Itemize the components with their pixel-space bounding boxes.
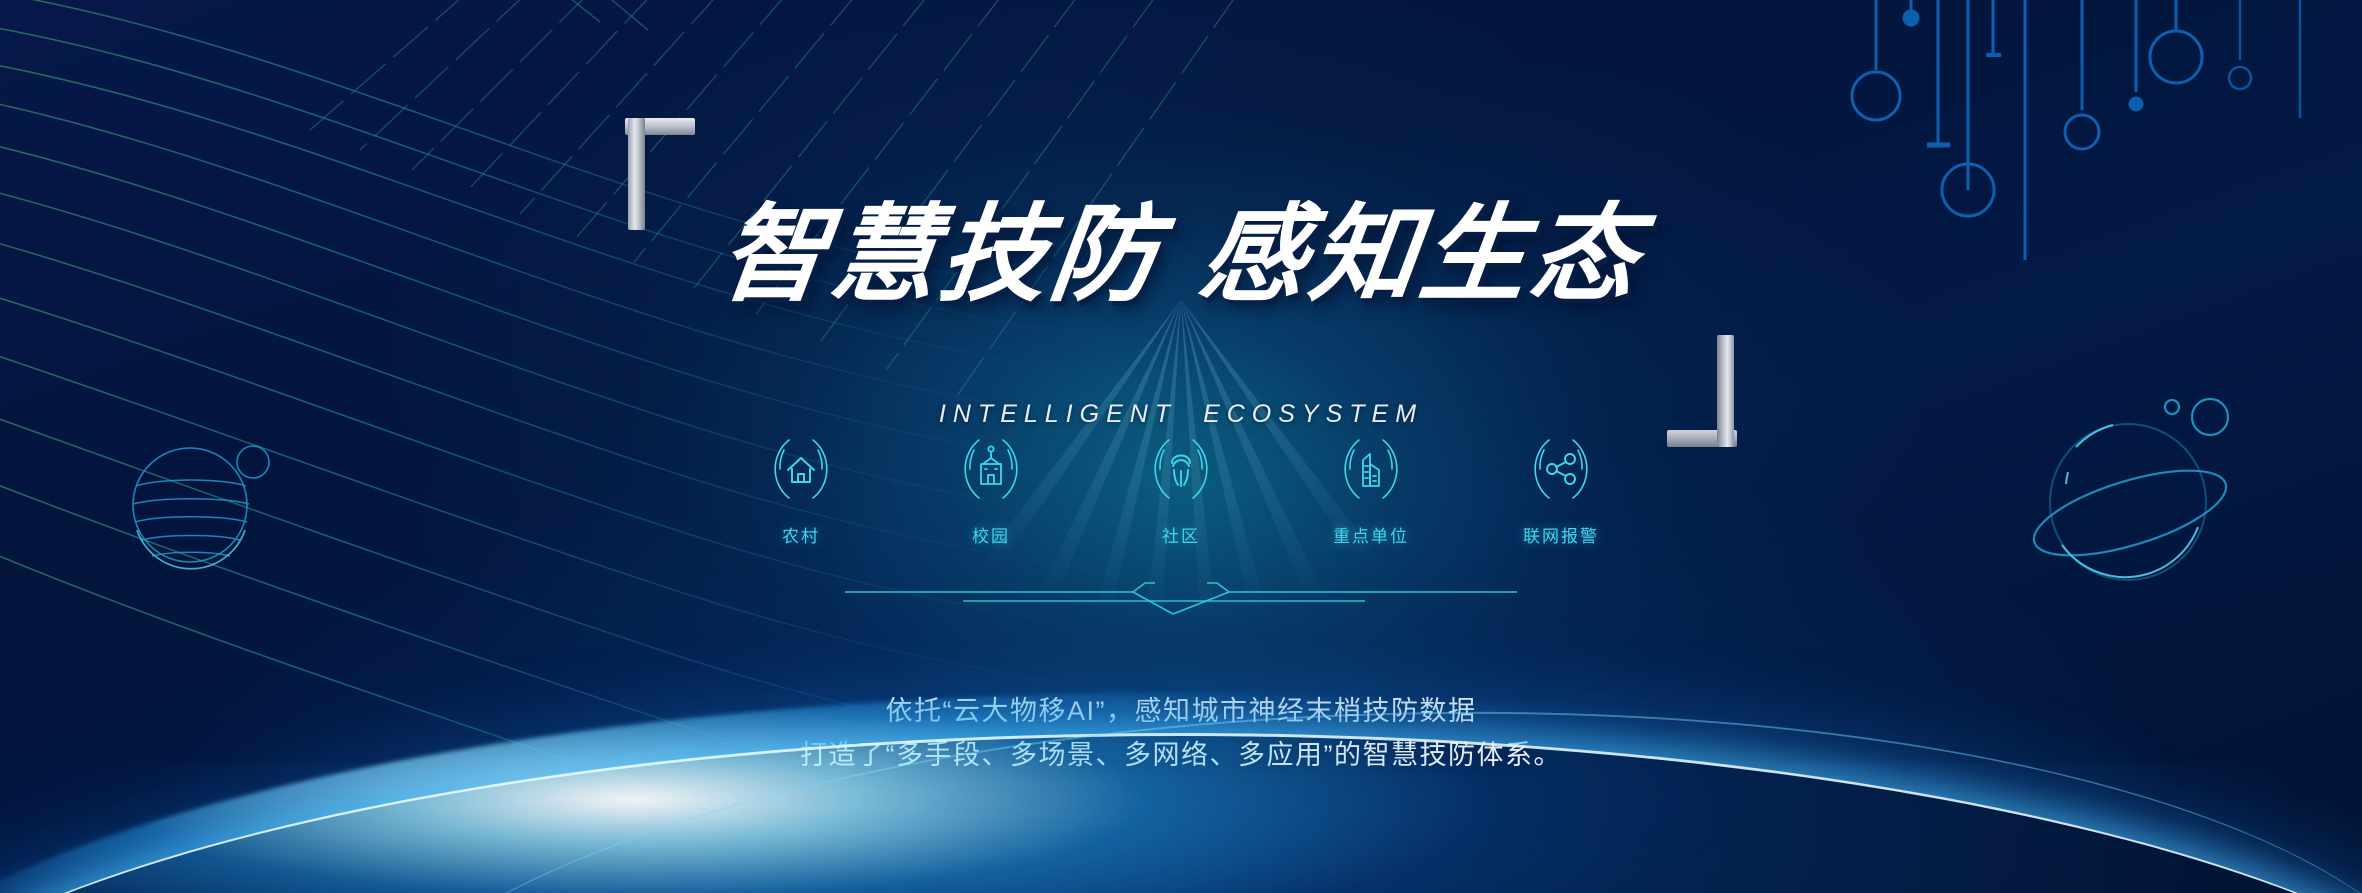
category-label: 社区 xyxy=(1121,522,1241,547)
school-building-icon xyxy=(952,430,1030,508)
category-item-community[interactable]: 社区 xyxy=(1121,430,1241,547)
subtitle-english: INTELLIGENTECOSYSTEM xyxy=(721,400,1641,429)
community-icon xyxy=(1142,430,1220,508)
title-part-2: 感知生态 xyxy=(1194,196,1648,314)
page-title: 智慧技防感知生态 xyxy=(714,199,1648,311)
city-buildings-icon xyxy=(1332,430,1410,508)
description-line-1: 依托“云大物移AI”，感知城市神经末梢技防数据 xyxy=(0,690,2362,734)
title-part-1: 智慧技防 xyxy=(714,196,1168,314)
category-label: 联网报警 xyxy=(1501,522,1621,547)
category-item-network-alarm[interactable]: 联网报警 xyxy=(1501,430,1621,547)
category-item-key-units[interactable]: 重点单位 xyxy=(1311,430,1431,547)
title-row: 智慧技防感知生态 INTELLIGENTECOSYSTEM xyxy=(651,128,1711,429)
description-block: 依托“云大物移AI”，感知城市神经末梢技防数据 打造了“多手段、多场景、多网络、… xyxy=(0,690,2362,777)
v-notch-divider xyxy=(845,578,1517,622)
house-icon xyxy=(762,430,840,508)
category-label: 重点单位 xyxy=(1311,522,1431,547)
title-block: 智慧技防感知生态 INTELLIGENTECOSYSTEM xyxy=(0,128,2362,429)
banner-root: 智慧技防感知生态 INTELLIGENTECOSYSTEM xyxy=(0,0,2362,893)
description-line-2: 打造了“多手段、多场景、多网络、多应用”的智慧技防体系。 xyxy=(0,734,2362,778)
category-label: 校园 xyxy=(931,522,1051,547)
subtitle-word-1: INTELLIGENT xyxy=(939,400,1177,428)
category-label: 农村 xyxy=(741,522,861,547)
category-item-campus[interactable]: 校园 xyxy=(931,430,1051,547)
network-share-icon xyxy=(1522,430,1600,508)
bracket-top-left-icon xyxy=(625,118,695,230)
category-item-rural[interactable]: 农村 xyxy=(741,430,861,547)
bracket-bottom-right-icon xyxy=(1667,335,1737,447)
subtitle-word-2: ECOSYSTEM xyxy=(1203,400,1423,428)
category-icon-row: 农村 xyxy=(741,430,1621,547)
